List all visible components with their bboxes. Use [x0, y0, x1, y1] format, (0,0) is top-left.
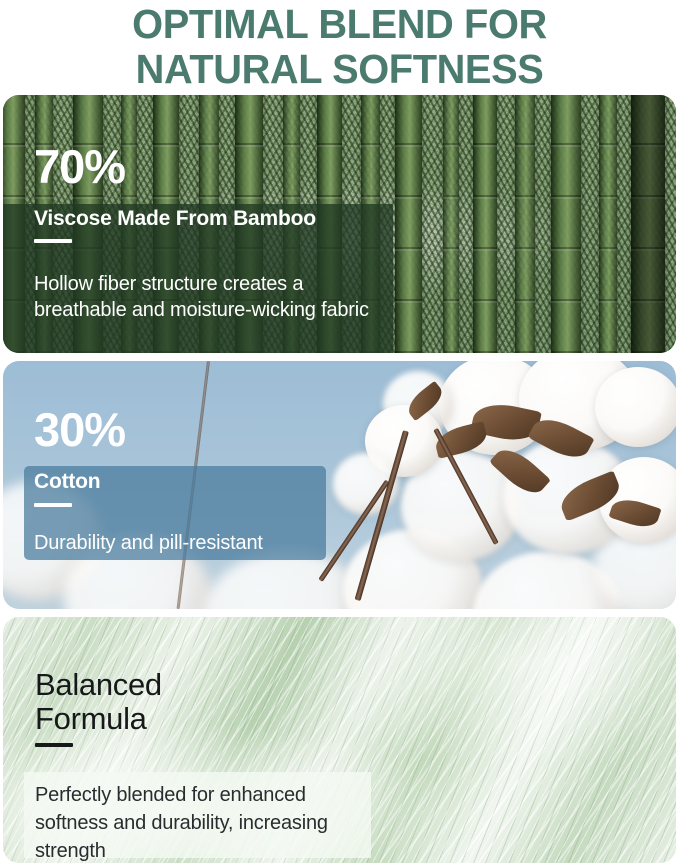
panel-subtitle: Viscose Made From Bamboo [34, 207, 316, 231]
divider-rule [34, 503, 72, 507]
percent-value: 70% [34, 143, 125, 190]
panel-cotton: 30% Cotton Durability and pill-resistant [3, 361, 676, 609]
panel-body-text: Durability and pill-resistant [34, 530, 334, 556]
panel-subtitle-line-1: Balanced [35, 668, 162, 702]
divider-rule [35, 743, 73, 747]
page-title-line-2: NATURAL SOFTNESS [10, 47, 669, 92]
divider-rule [34, 239, 72, 243]
page-title-line-1: OPTIMAL BLEND FOR [10, 2, 669, 47]
panel-body-text: Perfectly blended for enhanced softness … [35, 781, 380, 863]
percent-value: 30% [34, 406, 125, 453]
panel-body-text: Hollow fiber structure creates a breatha… [34, 271, 384, 323]
panel-bamboo: 70% Viscose Made From Bamboo Hollow fibe… [3, 95, 676, 353]
panel-subtitle: Balanced Formula [35, 668, 162, 736]
panel-subtitle: Cotton [34, 470, 100, 494]
panel-subtitle-line-2: Formula [35, 702, 162, 736]
panel-balanced-formula: Balanced Formula Perfectly blended for e… [3, 617, 676, 863]
page-title: OPTIMAL BLEND FOR NATURAL SOFTNESS [10, 0, 669, 92]
